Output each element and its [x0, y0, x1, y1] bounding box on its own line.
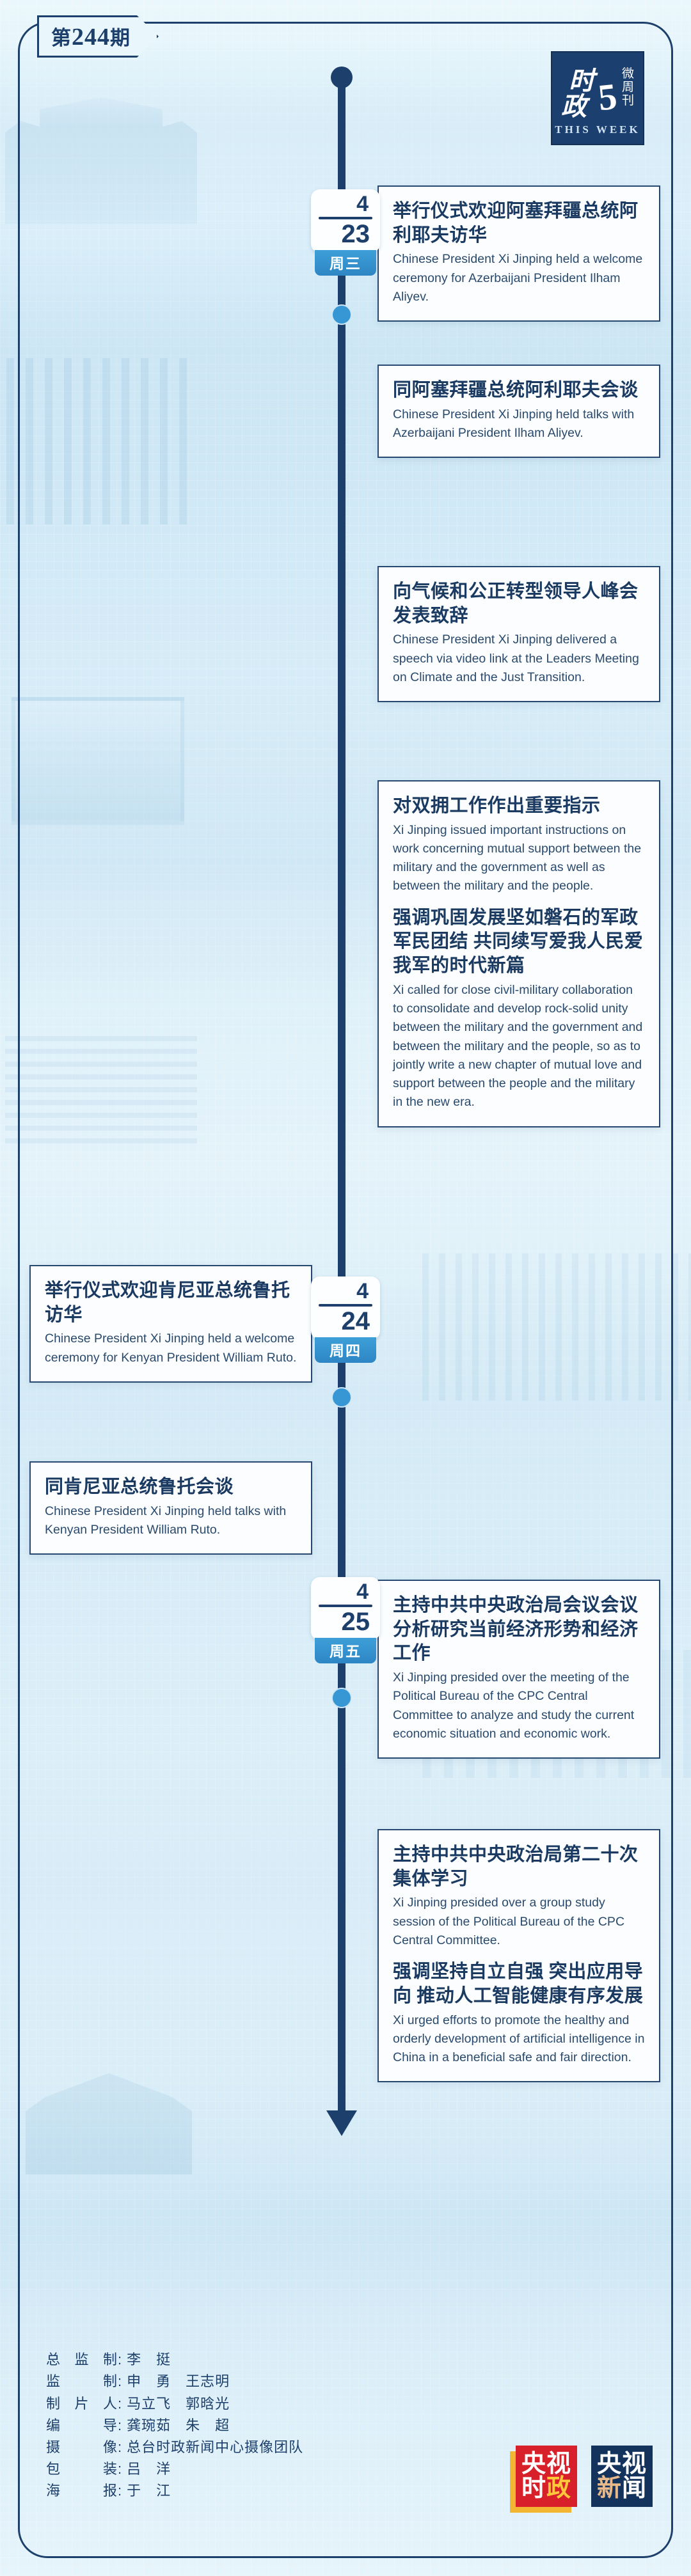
credit-label: 监制 [46, 2371, 118, 2392]
brand-logo-subtitle: 微 周 刊 [622, 68, 634, 107]
news-card-body: Xi Jinping presided over the meeting of … [393, 1669, 645, 1743]
date-day: 23 [319, 221, 372, 247]
credit-label: 总监制 [46, 2349, 118, 2371]
credit-row: 监制 : 申 勇 王志明 [46, 2371, 303, 2392]
issue-prefix: 第 [51, 27, 72, 49]
credit-label: 摄像 [46, 2437, 118, 2458]
cctv-politics-char-shi: 时 [521, 2475, 546, 2502]
news-card-body: Chinese President Xi Jinping delivered a… [393, 631, 645, 687]
news-card-heading: 主持中共中央政治局会议会议分析研究当前经济形势和经济工作 [393, 1594, 645, 1666]
credit-value: 李 挺 [127, 2349, 171, 2371]
news-card-body: Chinese President Xi Jinping held a welc… [45, 1330, 297, 1367]
credit-row: 摄像 : 总台时政新闻中心摄像团队 [46, 2437, 303, 2458]
credit-row: 总监制 : 李 挺 [46, 2349, 303, 2371]
date-weekday: 周五 [315, 1638, 376, 1663]
credit-row: 包装 : 吕 洋 [46, 2458, 303, 2480]
news-card-heading: 对双拥工作作出重要指示 [393, 794, 645, 819]
credit-value: 马立飞 郭晗光 [127, 2393, 230, 2415]
news-card-climate-summit[interactable]: 向气候和公正转型领导人峰会发表致辞 Chinese President Xi J… [377, 566, 660, 702]
news-card-heading: 同肯尼亚总统鲁托会谈 [45, 1475, 297, 1500]
timeline-spine [338, 72, 345, 2124]
cctv-politics-line2: 时政 [521, 2476, 571, 2501]
timeline-arrow-icon [326, 2110, 357, 2136]
news-card-heading: 主持中共中央政治局第二十次集体学习 [393, 1843, 645, 1891]
timeline-dot [331, 1387, 352, 1408]
date-badge-card: 4 24 [311, 1276, 380, 1340]
news-card-heading-secondary: 强调坚持自立自强 突出应用导向 推动人工智能健康有序发展 [393, 1960, 645, 2008]
issue-badge: 第244期 [37, 15, 159, 58]
news-card-azerbaijan-talks[interactable]: 同阿塞拜疆总统阿利耶夫会谈 Chinese President Xi Jinpi… [377, 365, 660, 458]
credit-value: 总台时政新闻中心摄像团队 [127, 2437, 303, 2458]
credit-value: 于 江 [127, 2480, 171, 2502]
cctv-politics-logo[interactable]: 央视 时政 [516, 2446, 577, 2507]
credit-colon: : [118, 2393, 122, 2415]
date-divider [319, 1605, 372, 1607]
brand-logo: 时 政 5 微 周 刊 THIS WEEK [551, 51, 644, 145]
brand-logo-sub-3: 刊 [622, 95, 634, 107]
cctv-news-line1: 央视 [597, 2452, 647, 2476]
credit-row: 编导 : 龚琬茹 朱 超 [46, 2415, 303, 2437]
credit-colon: : [118, 2349, 122, 2371]
date-divider [319, 217, 372, 219]
cctv-news-line2: 新闻 [597, 2476, 647, 2501]
cctv-politics-char-zheng: 政 [546, 2475, 571, 2502]
date-badge-0424: 4 24 周四 [311, 1276, 380, 1363]
date-divider [319, 1304, 372, 1307]
brand-logo-chinese: 时 政 5 微 周 刊 [561, 59, 637, 123]
news-card-body-secondary: Xi called for close civil-military colla… [393, 981, 645, 1112]
news-card-politburo-meeting[interactable]: 主持中共中央政治局会议会议分析研究当前经济形势和经济工作 Xi Jinping … [377, 1580, 660, 1759]
credit-row: 制片人 : 马立飞 郭晗光 [46, 2393, 303, 2415]
credits-block: 总监制 : 李 挺 监制 : 申 勇 王志明 制片人 : 马立飞 郭晗光 编导 … [46, 2349, 303, 2502]
credit-colon: : [118, 2480, 122, 2502]
news-card-kenya-talks[interactable]: 同肯尼亚总统鲁托会谈 Chinese President Xi Jinping … [29, 1461, 312, 1555]
credit-row: 海报 : 于 江 [46, 2480, 303, 2502]
news-card-heading: 举行仪式欢迎肯尼亚总统鲁托访华 [45, 1279, 297, 1327]
date-badge-card: 4 25 [311, 1577, 380, 1640]
news-card-heading: 同阿塞拜疆总统阿利耶夫会谈 [393, 379, 645, 403]
news-card-heading: 举行仪式欢迎阿塞拜疆总统阿利耶夫访华 [393, 200, 645, 247]
brand-logo-sub-1: 微 [622, 68, 634, 81]
news-card-body: Xi Jinping issued important instructions… [393, 821, 645, 896]
news-card-heading: 向气候和公正转型领导人峰会发表致辞 [393, 580, 645, 628]
date-month: 4 [319, 193, 372, 215]
footer-logos: 央视 时政 央视 新闻 [516, 2446, 653, 2507]
timeline-dot [331, 304, 352, 325]
date-month: 4 [319, 1581, 372, 1603]
date-month: 4 [319, 1280, 372, 1302]
date-badge-0423: 4 23 周三 [311, 189, 380, 276]
news-card-heading-secondary: 强调巩固发展坚如磐石的军政军民团结 共同续写爱我人民爱我军的时代新篇 [393, 906, 645, 978]
credit-value: 申 勇 王志明 [127, 2371, 230, 2392]
brand-logo-sub-2: 周 [622, 81, 634, 94]
news-card-kenya-welcome[interactable]: 举行仪式欢迎肯尼亚总统鲁托访华 Chinese President Xi Jin… [29, 1265, 312, 1383]
date-badge-0425: 4 25 周五 [311, 1577, 380, 1663]
news-card-body: Chinese President Xi Jinping held talks … [393, 405, 645, 443]
issue-suffix: 期 [110, 27, 131, 49]
brand-logo-english: THIS WEEK [555, 123, 640, 136]
credit-colon: : [118, 2458, 122, 2480]
credit-value: 龚琬茹 朱 超 [127, 2415, 230, 2437]
date-badge-card: 4 23 [311, 189, 380, 253]
date-day: 25 [319, 1608, 372, 1635]
issue-number: 244 [72, 24, 110, 51]
news-card-body-secondary: Xi urged efforts to promote the healthy … [393, 2011, 645, 2068]
date-day: 24 [319, 1308, 372, 1335]
news-card-azerbaijan-welcome[interactable]: 举行仪式欢迎阿塞拜疆总统阿利耶夫访华 Chinese President Xi … [377, 185, 660, 322]
credit-colon: : [118, 2371, 122, 2392]
credit-value: 吕 洋 [127, 2458, 171, 2480]
cctv-politics-line1: 央视 [521, 2452, 571, 2476]
credit-colon: : [118, 2415, 122, 2437]
cctv-news-char-wen: 闻 [622, 2475, 647, 2502]
issue-badge-text: 第244期 [51, 22, 131, 51]
timeline-dot [331, 1688, 352, 1708]
cctv-news-char-xin: 新 [597, 2475, 622, 2502]
date-weekday: 周四 [315, 1337, 376, 1363]
news-card-politburo-study-ai[interactable]: 主持中共中央政治局第二十次集体学习 Xi Jinping presided ov… [377, 1829, 660, 2082]
news-card-body: Chinese President Xi Jinping held talks … [45, 1502, 297, 1540]
credit-label: 制片人 [46, 2393, 118, 2415]
cctv-news-logo[interactable]: 央视 新闻 [591, 2446, 653, 2507]
credit-colon: : [118, 2437, 122, 2458]
news-card-body: Chinese President Xi Jinping held a welc… [393, 250, 645, 306]
brand-logo-char-zheng: 政 [561, 86, 587, 123]
date-weekday: 周三 [315, 250, 376, 276]
credit-label: 海报 [46, 2480, 118, 2502]
credit-label: 包装 [46, 2458, 118, 2480]
credit-label: 编导 [46, 2415, 118, 2437]
brand-logo-swoosh-icon: 5 [596, 75, 619, 120]
news-card-military-civil-support[interactable]: 对双拥工作作出重要指示 Xi Jinping issued important … [377, 780, 660, 1127]
news-card-body: Xi Jinping presided over a group study s… [393, 1894, 645, 1950]
